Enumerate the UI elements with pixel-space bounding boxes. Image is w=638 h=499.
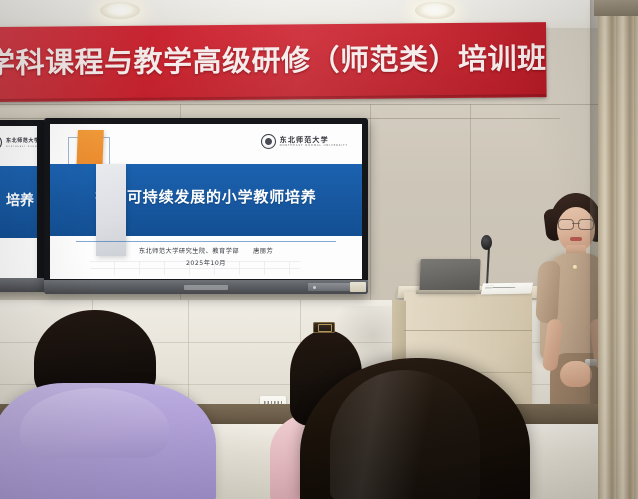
laptop-base [416, 290, 484, 294]
presentation-slide: 东北师范大学 NORTHEAST NORMAL UNIVERSITY 指向可持续… [50, 124, 362, 279]
slide-presenter-name: 唐丽芳 [253, 248, 273, 255]
slide-divider [76, 241, 336, 242]
university-name-cn: 东北师范大学 [280, 136, 348, 144]
slide-affiliation: 东北师范大学研究生院、教育学部 [139, 248, 239, 255]
ceiling-downlight [415, 2, 455, 19]
display-brand-label [184, 285, 228, 290]
secondary-display-panel[interactable]: 东北师范大学 NORTHEAST NORMAL UNIVERSITY 培养 [0, 120, 44, 292]
slide-affiliation-line: 东北师范大学研究生院、教育学部唐丽芳 [50, 246, 362, 257]
banner-title-text: 学科课程与教学高级研修（师范类）培训班 [0, 34, 553, 87]
slide-decor-grid [90, 261, 300, 275]
university-seal-icon [261, 134, 276, 149]
wall-seam [370, 104, 371, 300]
university-logo: 东北师范大学 NORTHEAST NORMAL UNIVERSITY [261, 134, 348, 149]
tile-seam [188, 300, 189, 406]
display-power-indicator [313, 286, 316, 289]
slide-decor-grey-bar [96, 164, 126, 256]
presenter-sleeve [535, 260, 560, 323]
university-name-en: NORTHEAST NORMAL UNIVERSITY [6, 145, 37, 149]
curtain-rail [594, 0, 638, 16]
papers-on-podium [481, 283, 533, 295]
main-display-screen: 东北师范大学 NORTHEAST NORMAL UNIVERSITY 指向可持续… [50, 124, 362, 279]
ceiling-downlight [100, 2, 140, 19]
hair-clip-icon [313, 322, 335, 333]
university-logo: 东北师范大学 NORTHEAST NORMAL UNIVERSITY [0, 135, 37, 150]
secondary-slide-title: 培养 [0, 190, 37, 210]
laptop[interactable] [419, 259, 480, 292]
secondary-display-screen: 东北师范大学 NORTHEAST NORMAL UNIVERSITY 培养 [0, 126, 37, 278]
presenter-mouth [570, 237, 582, 241]
wall-seam [0, 104, 638, 105]
secondary-display-bottom-bar [0, 278, 44, 292]
display-bottom-bar [44, 280, 368, 294]
presenter-hands [560, 361, 592, 387]
photo-scene: 学科课程与教学高级研修（师范类）培训班 东北师范大学 NORTHEAST NOR… [0, 0, 638, 499]
university-seal-icon [0, 135, 2, 150]
paper-text-lines [485, 285, 516, 289]
window-curtain [598, 0, 638, 499]
display-logo-badge [350, 282, 366, 292]
university-name-en: NORTHEAST NORMAL UNIVERSITY [280, 144, 348, 148]
microphone-icon[interactable] [481, 235, 492, 250]
eyeglasses-icon [558, 219, 594, 228]
main-display-panel[interactable]: 东北师范大学 NORTHEAST NORMAL UNIVERSITY 指向可持续… [44, 118, 368, 294]
secondary-slide: 东北师范大学 NORTHEAST NORMAL UNIVERSITY 培养 [0, 126, 37, 278]
university-name-cn: 东北师范大学 [6, 137, 37, 145]
pendant-icon [573, 265, 577, 269]
podium-edge-line [404, 330, 532, 331]
red-event-banner: 学科课程与教学高级研修（师范类）培训班 [0, 22, 547, 102]
